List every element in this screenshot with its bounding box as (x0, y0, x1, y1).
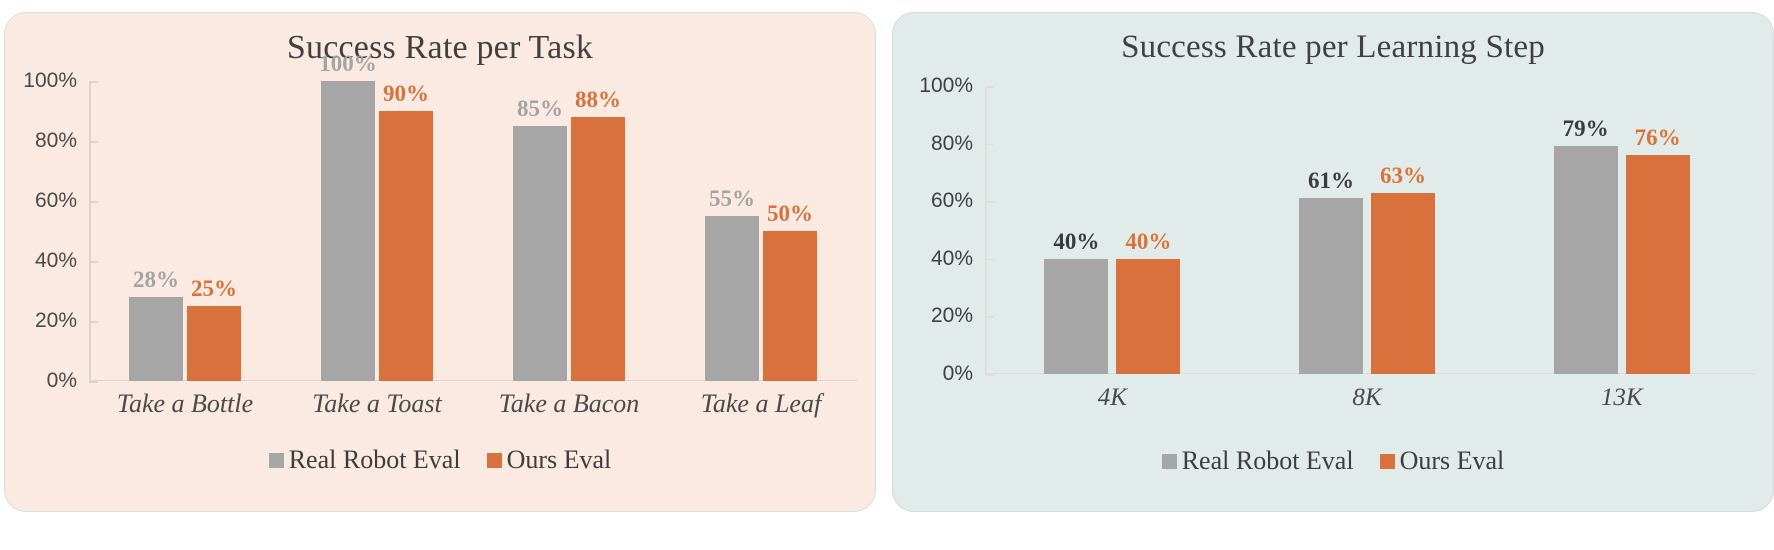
bar-group: 100%90% (281, 81, 473, 381)
bar-column[interactable]: 100% (321, 81, 375, 381)
legend-left: Real Robot EvalOurs Eval (5, 445, 875, 475)
bar[interactable] (571, 117, 625, 381)
y-axis-tick-label: 40% (931, 247, 973, 271)
bar-value-label: 100% (319, 52, 377, 75)
chart-panel-success-rate-per-task: Success Rate per Task 100%80%60%40%20%0%… (4, 12, 876, 512)
bar-value-label: 61% (1308, 169, 1354, 192)
y-axis-tick-label: 100% (919, 74, 973, 98)
bar-column[interactable]: 61% (1299, 86, 1363, 374)
legend-item[interactable]: Real Robot Eval (1162, 446, 1354, 476)
bar[interactable] (129, 297, 183, 381)
bar-group: 40%40% (985, 86, 1240, 374)
page-title-right: Success Rate per Learning Step (893, 13, 1773, 64)
y-axis-tick-label: 0% (47, 369, 77, 393)
y-axis-labels-left: 100%80%60%40%20%0% (5, 81, 89, 381)
bar-column[interactable]: 76% (1626, 86, 1690, 374)
x-axis-labels-left: Take a BottleTake a ToastTake a BaconTak… (89, 389, 857, 419)
bar-group: 55%50% (665, 81, 857, 381)
y-axis-tick-mark (89, 381, 98, 383)
bar-column[interactable]: 28% (129, 81, 183, 381)
bar-groups-right: 40%40%61%63%79%76% (985, 86, 1749, 374)
y-axis-tick-label: 100% (23, 69, 77, 93)
x-axis-category-label: Take a Leaf (665, 389, 857, 419)
bar[interactable] (1299, 198, 1363, 374)
bar[interactable] (1371, 193, 1435, 374)
bar[interactable] (705, 216, 759, 381)
page-title-left: Success Rate per Task (5, 13, 875, 65)
x-axis-category-label: 13K (1494, 384, 1749, 412)
legend-label: Ours Eval (1400, 446, 1505, 476)
bar-value-label: 85% (517, 97, 563, 120)
legend-swatch-icon (1380, 454, 1395, 469)
legend-item[interactable]: Ours Eval (1380, 446, 1505, 476)
y-axis-tick-mark (89, 321, 98, 323)
y-axis-tick-mark (985, 144, 994, 146)
bar-value-label: 28% (133, 268, 179, 291)
y-axis-tick-label: 0% (943, 362, 973, 386)
bar-column[interactable]: 88% (571, 81, 625, 381)
y-axis-tick-mark (89, 201, 98, 203)
y-axis-tick-label: 80% (931, 132, 973, 156)
bar[interactable] (321, 81, 375, 381)
bar-column[interactable]: 50% (763, 81, 817, 381)
bar-column[interactable]: 85% (513, 81, 567, 381)
bar[interactable] (1626, 155, 1690, 374)
bar-column[interactable]: 90% (379, 81, 433, 381)
bar-column[interactable]: 25% (187, 81, 241, 381)
bar[interactable] (1554, 146, 1618, 374)
bar-value-label: 79% (1563, 117, 1609, 140)
y-axis-tick-label: 60% (931, 189, 973, 213)
y-axis-tick-mark (985, 374, 994, 376)
bar-value-label: 55% (709, 187, 755, 210)
legend-label: Real Robot Eval (1182, 446, 1354, 476)
y-axis-tick-label: 20% (35, 309, 77, 333)
legend-right: Real Robot EvalOurs Eval (893, 446, 1773, 476)
x-axis-category-label: Take a Toast (281, 389, 473, 419)
bar-group: 85%88% (473, 81, 665, 381)
chart-panel-success-rate-per-learning-step: Success Rate per Learning Step 100%80%60… (892, 12, 1774, 512)
bar[interactable] (763, 231, 817, 381)
bar[interactable] (1116, 259, 1180, 374)
y-axis-tick-mark (985, 86, 994, 88)
bar-value-label: 63% (1380, 164, 1426, 187)
charts-stage: Success Rate per Task 100%80%60%40%20%0%… (0, 0, 1774, 550)
bar-groups-left: 28%25%100%90%85%88%55%50% (89, 81, 857, 381)
y-axis-tick-mark (985, 201, 994, 203)
legend-label: Real Robot Eval (289, 445, 461, 475)
bar[interactable] (513, 126, 567, 381)
y-axis-tick-label: 60% (35, 189, 77, 213)
y-axis-labels-right: 100%80%60%40%20%0% (893, 86, 985, 374)
legend-item[interactable]: Ours Eval (487, 445, 612, 475)
bar-value-label: 50% (767, 202, 813, 225)
bar-column[interactable]: 40% (1044, 86, 1108, 374)
bar-value-label: 40% (1125, 230, 1171, 253)
plot-area-left: 100%80%60%40%20%0% 28%25%100%90%85%88%55… (5, 81, 857, 381)
bar[interactable] (379, 111, 433, 381)
bar-group: 79%76% (1494, 86, 1749, 374)
y-axis-tick-label: 40% (35, 249, 77, 273)
x-axis-category-label: 4K (985, 384, 1240, 412)
bar-group: 28%25% (89, 81, 281, 381)
legend-item[interactable]: Real Robot Eval (269, 445, 461, 475)
x-axis-category-label: 8K (1240, 384, 1495, 412)
bar[interactable] (187, 306, 241, 381)
legend-swatch-icon (487, 453, 502, 468)
legend-swatch-icon (1162, 454, 1177, 469)
bar[interactable] (1044, 259, 1108, 374)
y-axis-tick-label: 80% (35, 129, 77, 153)
plot-area-right: 100%80%60%40%20%0% 40%40%61%63%79%76% (893, 86, 1755, 374)
y-axis-tick-mark (89, 81, 98, 83)
bar-column[interactable]: 40% (1116, 86, 1180, 374)
x-axis-category-label: Take a Bacon (473, 389, 665, 419)
y-axis-tick-mark (985, 259, 994, 261)
y-axis-tick-mark (89, 141, 98, 143)
x-axis-category-label: Take a Bottle (89, 389, 281, 419)
x-axis-labels-right: 4K8K13K (985, 384, 1749, 412)
bar-group: 61%63% (1240, 86, 1495, 374)
y-axis-tick-mark (89, 261, 98, 263)
bar-column[interactable]: 55% (705, 81, 759, 381)
bar-column[interactable]: 79% (1554, 86, 1618, 374)
bar-value-label: 88% (575, 88, 621, 111)
bar-value-label: 25% (191, 277, 237, 300)
bar-value-label: 40% (1053, 230, 1099, 253)
bar-value-label: 90% (383, 82, 429, 105)
y-axis-tick-mark (985, 316, 994, 318)
bar-column[interactable]: 63% (1371, 86, 1435, 374)
legend-swatch-icon (269, 453, 284, 468)
y-axis-tick-label: 20% (931, 304, 973, 328)
bar-value-label: 76% (1635, 126, 1681, 149)
legend-label: Ours Eval (507, 445, 612, 475)
